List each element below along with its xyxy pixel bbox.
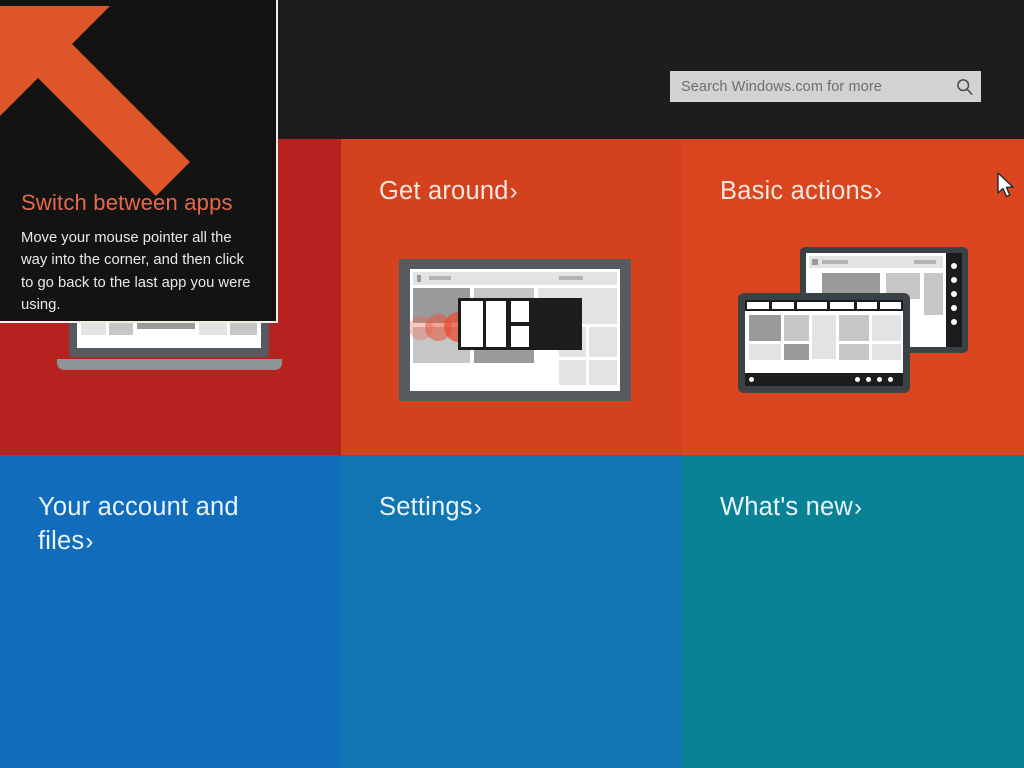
tile-label: Your account and files [38, 493, 239, 555]
tile-title-get-around: Get around› [379, 175, 658, 209]
tile-title-settings: Settings› [379, 491, 658, 525]
teaching-callout[interactable]: Switch between apps Move your mouse poin… [0, 0, 278, 323]
tile-title-your-account-and-files: Your account and files› [38, 491, 300, 558]
chevron-right-icon: › [510, 178, 518, 205]
search-input[interactable] [681, 79, 955, 95]
chevron-right-icon: › [85, 528, 93, 555]
tile-label: Settings [379, 493, 473, 521]
chevron-right-icon: › [474, 494, 482, 521]
tile-settings[interactable]: Settings› [341, 455, 682, 768]
callout-title: Switch between apps [21, 190, 233, 216]
get-around-illustration [399, 259, 631, 401]
tile-label: Get around [379, 177, 509, 205]
tile-get-around[interactable]: Get around› [341, 139, 682, 455]
tile-label: What's new [720, 493, 853, 521]
search-icon[interactable] [955, 77, 975, 97]
callout-body: Move your mouse pointer all the way into… [21, 227, 259, 316]
tile-title-basic-actions: Basic actions› [720, 175, 1000, 209]
tile-title-whats-new: What's new› [720, 491, 1000, 525]
arrow-up-left-icon [0, 0, 190, 196]
chevron-right-icon: › [854, 494, 862, 521]
help-and-tips-app: Get around› [0, 0, 1024, 768]
tile-basic-actions[interactable]: Basic actions› [682, 139, 1024, 455]
tile-whats-new[interactable]: What's new› [682, 455, 1024, 768]
tile-label: Basic actions [720, 177, 873, 205]
search-box[interactable] [670, 71, 981, 102]
mouse-pointer-icon [996, 172, 1016, 200]
tile-your-account-and-files[interactable]: Your account and files› [0, 455, 341, 768]
chevron-right-icon: › [874, 178, 882, 205]
basic-actions-illustration [738, 247, 978, 397]
